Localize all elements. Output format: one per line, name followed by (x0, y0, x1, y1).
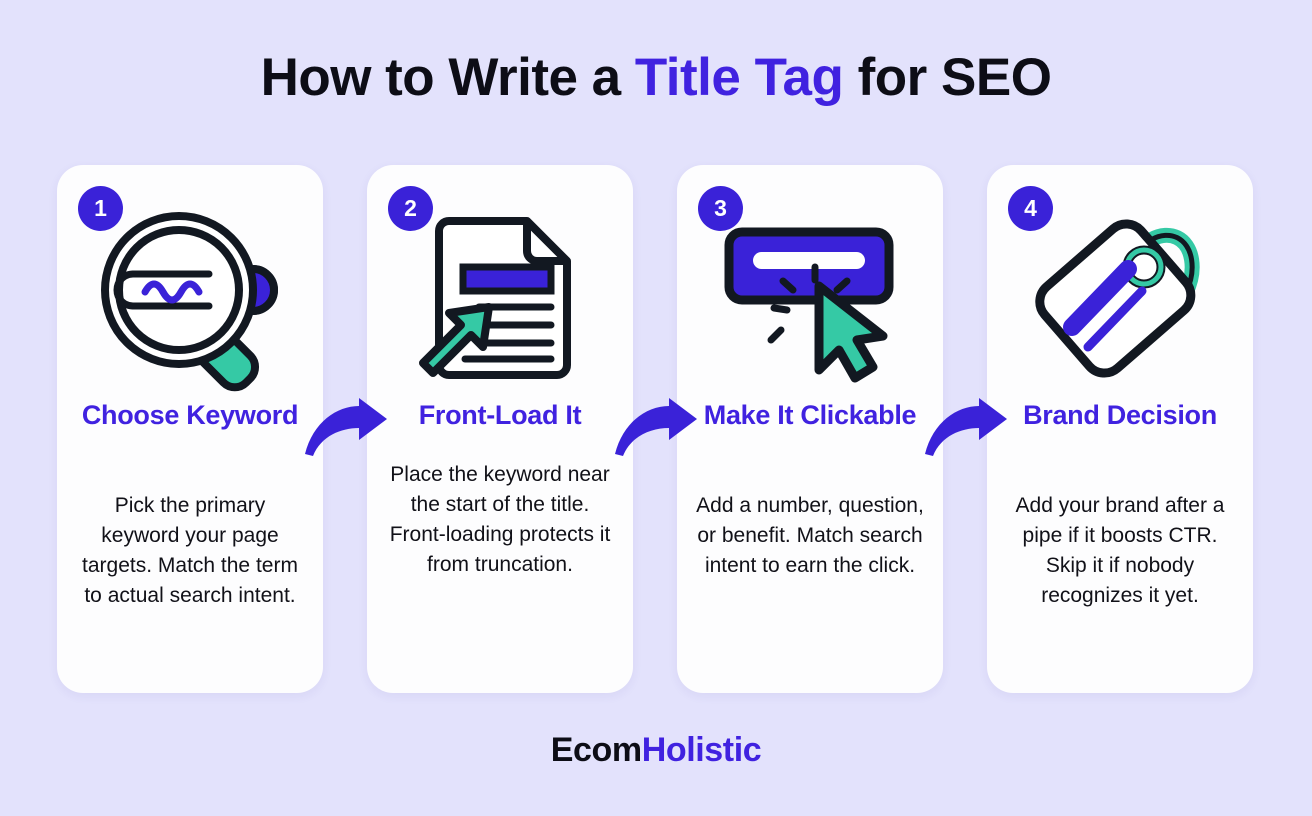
brand-part1: Ecom (551, 731, 642, 769)
page-title: How to Write a Title Tag for SEO (0, 48, 1312, 109)
step-number-badge-1: 1 (78, 186, 123, 231)
step-card-1: 1 (57, 165, 323, 693)
page-title-part1: How to Write a (261, 48, 635, 107)
step-number-badge-2: 2 (388, 186, 433, 231)
infographic-root: How to Write a Title Tag for SEO 1 (0, 0, 1312, 816)
brand-logo: EcomHolistic (0, 730, 1312, 771)
page-title-part2: for SEO (843, 48, 1051, 107)
step-card-3: 3 (677, 165, 943, 693)
step-body-3: Add a number, question, or benefit. Matc… (693, 491, 927, 581)
arrow-step-1-to-2 (303, 398, 389, 456)
step-body-4: Add your brand after a pipe if it boosts… (1003, 491, 1237, 611)
step-number-badge-4: 4 (1008, 186, 1053, 231)
step-card-4: 4 Brand Decision (987, 165, 1253, 693)
step-title-3: Make It Clickable (691, 398, 929, 433)
page-title-accent: Title Tag (635, 48, 844, 107)
step-title-4: Brand Decision (1001, 398, 1239, 433)
step-title-2: Front-Load It (381, 398, 619, 433)
step-number-badge-3: 3 (698, 186, 743, 231)
arrow-step-2-to-3 (613, 398, 699, 456)
brand-accent: Holistic (642, 731, 762, 769)
step-card-2: 2 (367, 165, 633, 693)
step-title-1: Choose Keyword (71, 398, 309, 433)
step-body-1: Pick the primary keyword your page targe… (73, 491, 307, 611)
arrow-step-3-to-4 (923, 398, 1009, 456)
step-body-2: Place the keyword near the start of the … (383, 460, 617, 580)
